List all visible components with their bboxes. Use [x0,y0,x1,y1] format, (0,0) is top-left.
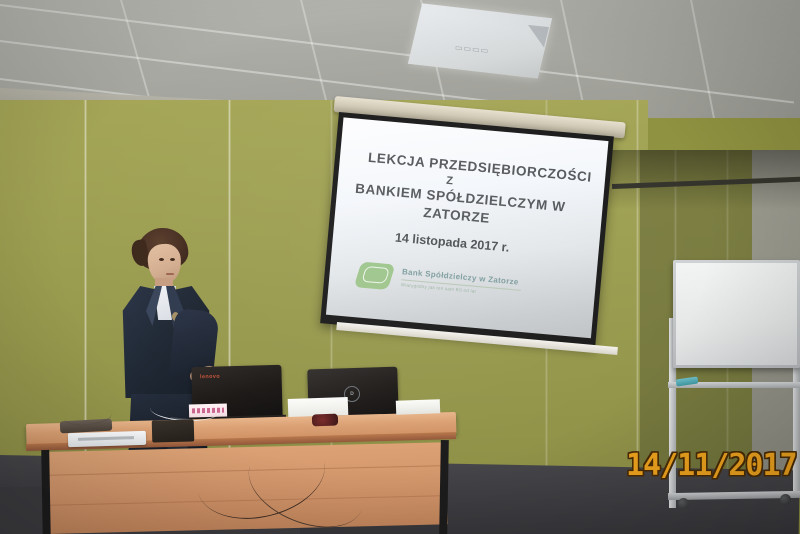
lenovo-logo: lenovo [200,374,220,381]
whiteboard-wheel-left [678,498,689,509]
slide-title-line1: LEKCJA PRZEDSIĘBIORCZOŚCI [367,150,592,185]
whiteboard-wheel-right [780,494,791,505]
slide-title-line2: Z [446,175,454,188]
presenter-eye-left [159,258,164,261]
whiteboard-surface [676,263,797,365]
camera-date-stamp: 14/11/2017 [626,448,797,483]
paper-sheet [396,399,440,415]
whiteboard [673,260,800,368]
photograph-scene: ▭▭▭▭ LEKCJA PRZEDSIĘBIORCZOŚCI Z BANKIEM… [0,0,800,534]
desk-leg-left [41,450,51,534]
desk-leg-right [439,440,449,534]
slide-date: 14 listopada 2017 r. [394,231,509,255]
projection-screen-surface: LEKCJA PRZEDSIĘBIORCZOŚCI Z BANKIEM SPÓŁ… [326,117,609,338]
black-equipment-box [152,419,195,442]
presenter-eye-right [170,258,175,261]
slide-title-line4: ZATORZE [423,205,491,226]
projection-screen-border: LEKCJA PRZEDSIĘBIORCZOŚCI Z BANKIEM SPÓŁ… [320,112,614,348]
bank-logo: Bank Spółdzielczy w Zatorze Wiarygodny j… [356,259,548,312]
presenter-mouth [166,273,174,275]
connector-cluster [312,414,338,427]
ceiling-light-reflection [528,25,549,48]
pink-card-text [192,408,224,414]
